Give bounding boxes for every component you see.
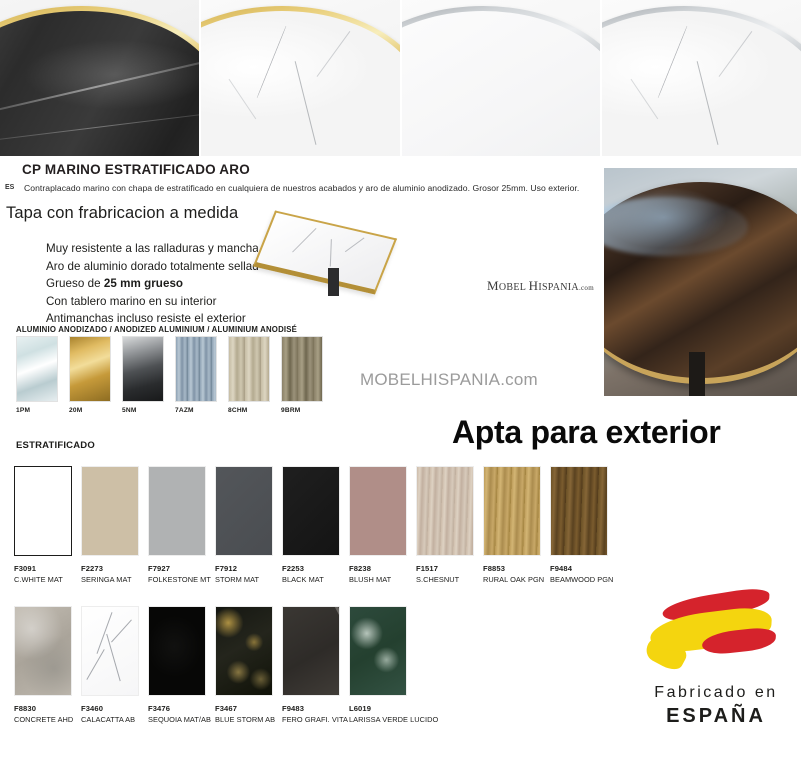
laminate-swatch-code: F8830 bbox=[14, 704, 78, 713]
table-top-disc bbox=[0, 6, 199, 156]
laminate-swatch-name: C.WHITE MAT bbox=[14, 575, 78, 584]
product-description: Contraplacado marino con chapa de estrat… bbox=[24, 183, 579, 193]
logo-letter-h: H bbox=[529, 278, 539, 293]
aluminium-swatch-item[interactable]: 8CHM bbox=[228, 336, 268, 414]
aluminium-swatch-item[interactable]: 1PM bbox=[16, 336, 56, 414]
laminate-swatch-name: FOLKESTONE MT bbox=[148, 575, 212, 584]
laminate-swatch-item[interactable]: F9484 BEAMWOOD PGN bbox=[550, 466, 614, 584]
marble-vein bbox=[111, 619, 132, 642]
logo-text-mobel: OBEL bbox=[499, 282, 529, 293]
laminate-swatch-item[interactable]: F7927 FOLKESTONE MT bbox=[148, 466, 212, 584]
laminate-swatch-item[interactable]: F3091 C.WHITE MAT bbox=[14, 466, 78, 584]
aluminium-swatch-item[interactable]: 7AZM bbox=[175, 336, 215, 414]
black-marble-surface bbox=[0, 11, 199, 156]
laminate-swatch-code: F2273 bbox=[81, 564, 145, 573]
laminate-swatch-color bbox=[81, 466, 139, 556]
aluminium-swatch-row: 1PM 20M 5NM 7AZM 8CHM 9BRM bbox=[16, 336, 321, 414]
laminate-swatch-name: CALACATTA AB bbox=[81, 715, 145, 724]
marble-vein bbox=[345, 238, 364, 252]
table-base-leg bbox=[689, 352, 705, 396]
laminate-swatch-color bbox=[148, 466, 206, 556]
laminate-section-heading: ESTRATIFICADO bbox=[16, 440, 95, 451]
aluminium-swatch-color bbox=[175, 336, 217, 402]
laminate-swatch-name: BLUSH MAT bbox=[349, 575, 413, 584]
feature-text: Antimanchas incluso resiste el exterior bbox=[46, 312, 246, 325]
laminate-swatch-color bbox=[14, 466, 72, 556]
product-photo-banner bbox=[0, 0, 801, 156]
aluminium-swatch-color bbox=[281, 336, 323, 402]
white-marble-surface bbox=[201, 11, 400, 156]
laminate-swatch-color bbox=[81, 606, 139, 696]
logo-text-hispania: ISPANIA bbox=[538, 282, 579, 293]
product-headline: Tapa con frabricacion a medida bbox=[6, 204, 238, 223]
mobel-hispania-logo[interactable]: MOBEL HISPANIA.com bbox=[487, 278, 594, 294]
outdoor-table-photo[interactable] bbox=[604, 168, 797, 396]
laminate-swatch-color bbox=[483, 466, 541, 556]
laminate-swatch-item[interactable]: F2253 BLACK MAT bbox=[282, 466, 346, 584]
logo-domain: .com bbox=[579, 284, 594, 292]
banner-panel-3[interactable] bbox=[402, 0, 601, 156]
laminate-swatch-color bbox=[416, 466, 474, 556]
marble-vein bbox=[630, 79, 658, 120]
laminate-swatch-code: F8853 bbox=[483, 564, 547, 573]
laminate-swatch-code: F8238 bbox=[349, 564, 413, 573]
laminate-swatch-item[interactable]: F2273 SERINGA MAT bbox=[81, 466, 145, 584]
laminate-swatch-code: F9484 bbox=[550, 564, 614, 573]
laminate-swatch-row-2: F8830 CONCRETE AHD F3460 CALACATTA AB F3… bbox=[14, 606, 416, 724]
banner-panel-2[interactable] bbox=[201, 0, 400, 156]
aluminium-swatch-code: 5NM bbox=[122, 407, 162, 414]
aluminium-swatch-color bbox=[16, 336, 58, 402]
white-plain-surface bbox=[402, 11, 601, 156]
laminate-swatch-color bbox=[14, 606, 72, 696]
aluminium-swatch-item[interactable]: 9BRM bbox=[281, 336, 321, 414]
laminate-swatch-item[interactable]: F8853 RURAL OAK PGN bbox=[483, 466, 547, 584]
laminate-swatch-code: F7912 bbox=[215, 564, 279, 573]
white-marble-surface bbox=[602, 11, 801, 156]
feature-text: Grueso de bbox=[46, 277, 104, 290]
marble-vein bbox=[658, 25, 688, 98]
laminate-swatch-item[interactable]: F9483 FERO GRAFI. VITA bbox=[282, 606, 346, 724]
aluminium-swatch-code: 7AZM bbox=[175, 407, 215, 414]
laminate-swatch-code: F3467 bbox=[215, 704, 279, 713]
square-table-photo[interactable] bbox=[258, 208, 410, 296]
laminate-swatch-code: F2253 bbox=[282, 564, 346, 573]
laminate-swatch-color bbox=[282, 606, 340, 696]
laminate-swatch-color bbox=[148, 606, 206, 696]
laminate-swatch-name: CONCRETE AHD bbox=[14, 715, 78, 724]
laminate-swatch-name: BLACK MAT bbox=[282, 575, 346, 584]
laminate-swatch-code: F7927 bbox=[148, 564, 212, 573]
site-watermark: MOBELHISPANIA.com bbox=[360, 370, 538, 390]
feature-item: Antimanchas incluso resiste el exterior bbox=[46, 312, 265, 325]
laminate-swatch-code: F3476 bbox=[148, 704, 212, 713]
feature-text: Muy resistente a las ralladuras y mancha… bbox=[46, 242, 265, 255]
spain-flag-icon bbox=[644, 592, 792, 678]
marble-vein bbox=[719, 31, 753, 77]
laminate-swatch-name: FERO GRAFI. VITA bbox=[282, 715, 346, 724]
feature-emphasis: 25 mm grueso bbox=[104, 277, 183, 290]
laminate-swatch-item[interactable]: F8830 CONCRETE AHD bbox=[14, 606, 78, 724]
aluminium-swatch-item[interactable]: 5NM bbox=[122, 336, 162, 414]
marble-vein bbox=[229, 79, 257, 120]
table-top-disc bbox=[201, 6, 400, 156]
laminate-swatch-name: SERINGA MAT bbox=[81, 575, 145, 584]
laminate-swatch-item[interactable]: F7912 STORM MAT bbox=[215, 466, 279, 584]
aluminium-swatch-code: 20M bbox=[69, 407, 109, 414]
language-tag-es: ES bbox=[5, 184, 14, 191]
marble-vein bbox=[295, 61, 317, 144]
aluminium-swatch-color bbox=[69, 336, 111, 402]
laminate-swatch-name: LARISSA VERDE LUCIDO bbox=[349, 715, 413, 724]
laminate-swatch-name: STORM MAT bbox=[215, 575, 279, 584]
outdoor-suitability-slogan: Apta para exterior bbox=[452, 414, 720, 451]
laminate-swatch-color bbox=[215, 466, 273, 556]
laminate-swatch-code: F3091 bbox=[14, 564, 78, 573]
feature-text: Aro de aluminio dorado totalmente sellad… bbox=[46, 260, 265, 273]
feature-text: Con tablero marino en su interior bbox=[46, 295, 217, 308]
country-label: ESPAÑA bbox=[636, 705, 796, 728]
feature-list: Muy resistente a las ralladuras y mancha… bbox=[6, 242, 265, 330]
feature-item: Muy resistente a las ralladuras y mancha… bbox=[46, 242, 265, 255]
laminate-swatch-color bbox=[215, 606, 273, 696]
laminate-swatch-name: SEQUOIA MAT/AB bbox=[148, 715, 212, 724]
aluminium-swatch-color bbox=[228, 336, 270, 402]
laminate-swatch-name: BEAMWOOD PGN bbox=[550, 575, 614, 584]
laminate-swatch-item[interactable]: F1517 S.CHESNUT bbox=[416, 466, 480, 584]
marble-vein bbox=[256, 25, 286, 98]
made-in-label: Fabricado en bbox=[636, 684, 796, 702]
laminate-swatch-color bbox=[550, 466, 608, 556]
aluminium-swatch-code: 8CHM bbox=[228, 407, 268, 414]
laminate-swatch-row-1: F3091 C.WHITE MAT F2273 SERINGA MAT F792… bbox=[14, 466, 617, 584]
feature-item: Con tablero marino en su interior bbox=[46, 295, 265, 308]
laminate-swatch-code: L6019 bbox=[349, 704, 413, 713]
marble-vein bbox=[292, 229, 317, 254]
laminate-swatch-name: S.CHESNUT bbox=[416, 575, 480, 584]
square-tabletop-surface bbox=[253, 210, 397, 294]
laminate-swatch-item[interactable]: L6019 LARISSA VERDE LUCIDO bbox=[349, 606, 413, 724]
laminate-swatch-item[interactable]: F3467 BLUE STORM AB bbox=[215, 606, 279, 724]
aluminium-swatch-code: 1PM bbox=[16, 407, 56, 414]
laminate-swatch-name: RURAL OAK PGN bbox=[483, 575, 547, 584]
logo-letter-m: M bbox=[487, 278, 499, 293]
marble-vein bbox=[696, 61, 718, 144]
laminate-swatch-name: BLUE STORM AB bbox=[215, 715, 279, 724]
laminate-swatch-color bbox=[349, 466, 407, 556]
marble-vein bbox=[107, 634, 122, 682]
aluminium-swatch-color bbox=[122, 336, 164, 402]
surface-reflection bbox=[604, 197, 748, 256]
table-top-disc bbox=[402, 6, 601, 156]
marble-vein bbox=[329, 239, 331, 267]
product-title: CP MARINO ESTRATIFICADO ARO bbox=[22, 162, 250, 177]
table-top-disc bbox=[602, 6, 801, 156]
banner-panel-1[interactable] bbox=[0, 0, 199, 156]
laminate-swatch-color bbox=[349, 606, 407, 696]
laminate-swatch-item[interactable]: F3460 CALACATTA AB bbox=[81, 606, 145, 724]
laminate-swatch-code: F9483 bbox=[282, 704, 346, 713]
marble-vein bbox=[87, 650, 105, 681]
laminate-swatch-color bbox=[282, 466, 340, 556]
laminate-swatch-item[interactable]: F3476 SEQUOIA MAT/AB bbox=[148, 606, 212, 724]
feature-item: Grueso de 25 mm grueso bbox=[46, 277, 265, 290]
laminate-swatch-item[interactable]: F8238 BLUSH MAT bbox=[349, 466, 413, 584]
feature-item: Aro de aluminio dorado totalmente sellad… bbox=[46, 260, 265, 273]
laminate-swatch-code: F3460 bbox=[81, 704, 145, 713]
marble-vein bbox=[317, 31, 351, 77]
aluminium-section-heading: ALUMINIO ANODIZADO / ANODIZED ALUMINIUM … bbox=[16, 325, 297, 334]
table-column-leg bbox=[328, 268, 339, 296]
laminate-swatch-code: F1517 bbox=[416, 564, 480, 573]
made-in-spain-badge: Fabricado en ESPAÑA bbox=[636, 592, 796, 732]
aluminium-swatch-code: 9BRM bbox=[281, 407, 321, 414]
banner-panel-4[interactable] bbox=[602, 0, 801, 156]
aluminium-swatch-item[interactable]: 20M bbox=[69, 336, 109, 414]
